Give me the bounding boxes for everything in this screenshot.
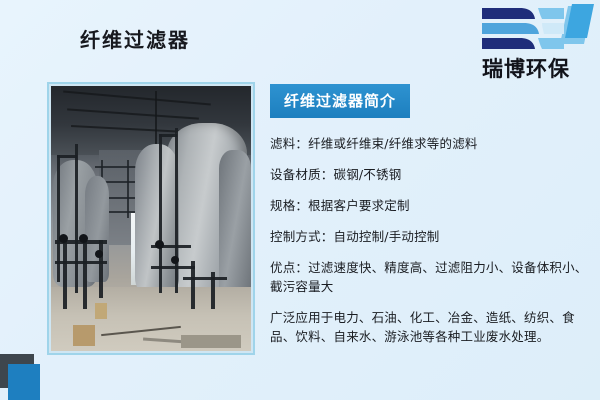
spec-item-body-material: 设备材质：碳钢/不锈钢 bbox=[270, 165, 592, 184]
photo-filter-tank bbox=[219, 150, 251, 304]
photo-pipe bbox=[63, 240, 67, 309]
photo-pipe bbox=[183, 277, 227, 280]
photo-floor-box bbox=[95, 303, 107, 319]
spec-item-size: 规格：根据客户要求定制 bbox=[270, 196, 592, 215]
spec-panel: 纤维过滤器简介 滤料：纤维或纤维束/纤维求等的滤料 设备材质：碳钢/不锈钢 规格… bbox=[270, 84, 592, 346]
photo-filter-tank bbox=[85, 176, 109, 282]
brand-logo: 瑞博环保 bbox=[458, 4, 594, 82]
spec-item-material: 滤料：纤维或纤维束/纤维求等的滤料 bbox=[270, 134, 592, 153]
spec-item-applications: 广泛应用于电力、石油、化工、冶金、造纸、纺织、食品、饮料、自来水、游泳池等各种工… bbox=[270, 308, 588, 346]
photo-valve bbox=[155, 240, 164, 249]
decorative-squares bbox=[0, 354, 60, 400]
spec-item-control-mode: 控制方式：自动控制/手动控制 bbox=[270, 227, 592, 246]
photo-ceiling-beam bbox=[155, 91, 157, 149]
photo-filter-tank bbox=[135, 144, 179, 292]
product-photo bbox=[51, 86, 251, 351]
product-photo-frame bbox=[47, 82, 255, 355]
photo-pipe bbox=[159, 134, 177, 137]
photo-pipe bbox=[151, 266, 195, 269]
ribo-logo-mark-icon bbox=[472, 4, 594, 52]
photo-truss-post bbox=[127, 160, 129, 218]
photo-pipe bbox=[83, 240, 87, 309]
photo-pipe bbox=[211, 272, 215, 309]
photo-floor-box bbox=[73, 325, 95, 346]
photo-pipe bbox=[75, 144, 78, 292]
spec-list: 滤料：纤维或纤维束/纤维求等的滤料 设备材质：碳钢/不锈钢 规格：根据客户要求定… bbox=[270, 134, 592, 346]
logo-wordmark: 瑞博环保 bbox=[458, 56, 594, 82]
photo-pipe bbox=[57, 155, 77, 158]
spec-item-advantages: 优点：过滤速度快、精度高、过滤阻力小、设备体积小、截污容量大 bbox=[270, 258, 588, 296]
slide-canvas: 瑞博环保 纤维过滤器 bbox=[0, 0, 600, 400]
panel-heading-badge: 纤维过滤器简介 bbox=[270, 84, 410, 118]
photo-valve bbox=[171, 256, 179, 264]
photo-pipe bbox=[99, 240, 103, 298]
page-title: 纤维过滤器 bbox=[80, 24, 190, 53]
photo-floor-pallet bbox=[181, 335, 241, 348]
decorative-square-blue bbox=[8, 364, 40, 400]
photo-pipe bbox=[191, 261, 195, 309]
